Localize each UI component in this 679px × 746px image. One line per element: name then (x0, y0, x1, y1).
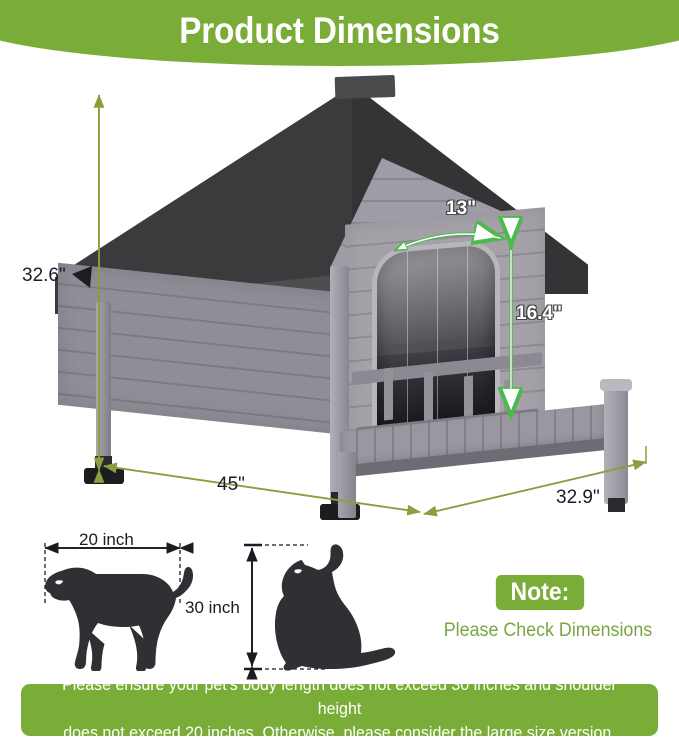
dimension-label-width: 45" (217, 474, 245, 496)
standing-dog-silhouette (36, 546, 196, 671)
roof-ridge-cap (335, 75, 396, 99)
dimension-label-door-height: 16.4" (516, 303, 562, 325)
porch-post-cap (600, 379, 632, 391)
door-flap-sheen (377, 244, 495, 346)
product-dimensions-infographic: Product Dimensions (0, 0, 679, 746)
dimension-label-height: 32.6" (22, 265, 66, 287)
sitting-dog-silhouette (262, 538, 402, 673)
door-flap-seam (407, 251, 408, 427)
house-foot (84, 468, 124, 484)
footer-warning-banner: Please ensure your pet's body length doe… (21, 684, 658, 736)
note-subtitle: Please Check Dimensions (435, 620, 661, 642)
porch-baluster (384, 368, 393, 421)
dog-height-label: 30 inch (185, 598, 240, 618)
header-banner: Product Dimensions (0, 0, 679, 72)
porch-post-right (604, 384, 628, 504)
footer-line-1: Please ensure your pet's body length doe… (44, 674, 635, 722)
porch-baluster (424, 372, 433, 425)
page-title: Product Dimensions (34, 10, 645, 52)
dimension-label-door-width: 13" (446, 198, 476, 220)
house-corner-post-left (96, 302, 111, 466)
dog-length-label: 20 inch (79, 530, 134, 550)
note-badge: Note: (496, 575, 584, 610)
footer-line-2: does not exceed 20 inches. Otherwise, pl… (44, 722, 635, 746)
door-flap-seam (437, 249, 438, 425)
product-illustration (0, 66, 679, 506)
